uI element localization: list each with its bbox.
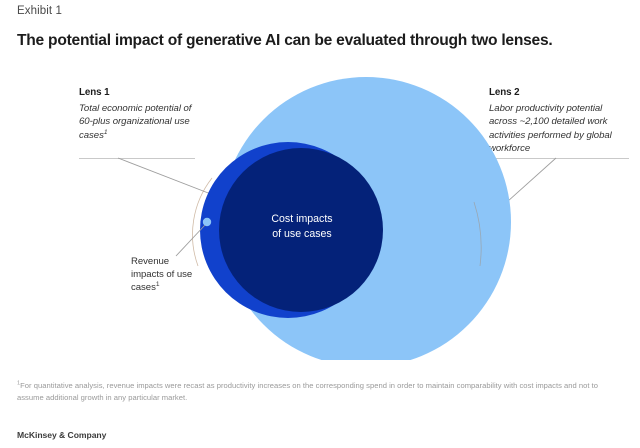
cost-impacts-label-line-2: of use cases bbox=[272, 228, 331, 240]
footnote-text: For quantitative analysis, revenue impac… bbox=[17, 381, 598, 402]
venn-diagram-svg: Cost impacts of use cases bbox=[0, 60, 640, 360]
brand-mckinsey: McKinsey & Company bbox=[17, 430, 106, 440]
revenue-impacts-label: Revenue impacts of use cases bbox=[131, 256, 192, 293]
revenue-footnote-marker: 1 bbox=[156, 281, 160, 288]
page-title: The potential impact of generative AI ca… bbox=[17, 32, 552, 50]
revenue-marker-dot bbox=[203, 218, 211, 226]
cost-impacts-label-line-1: Cost impacts bbox=[271, 213, 332, 225]
lens-1-leader-line bbox=[118, 158, 216, 196]
footnote: 1For quantitative analysis, revenue impa… bbox=[17, 380, 625, 403]
exhibit-page: Exhibit 1 The potential impact of genera… bbox=[0, 0, 640, 448]
revenue-impacts-callout: Revenue impacts of use cases1 bbox=[131, 255, 201, 295]
exhibit-eyebrow: Exhibit 1 bbox=[17, 5, 62, 17]
venn-diagram: Cost impacts of use cases bbox=[0, 60, 640, 360]
